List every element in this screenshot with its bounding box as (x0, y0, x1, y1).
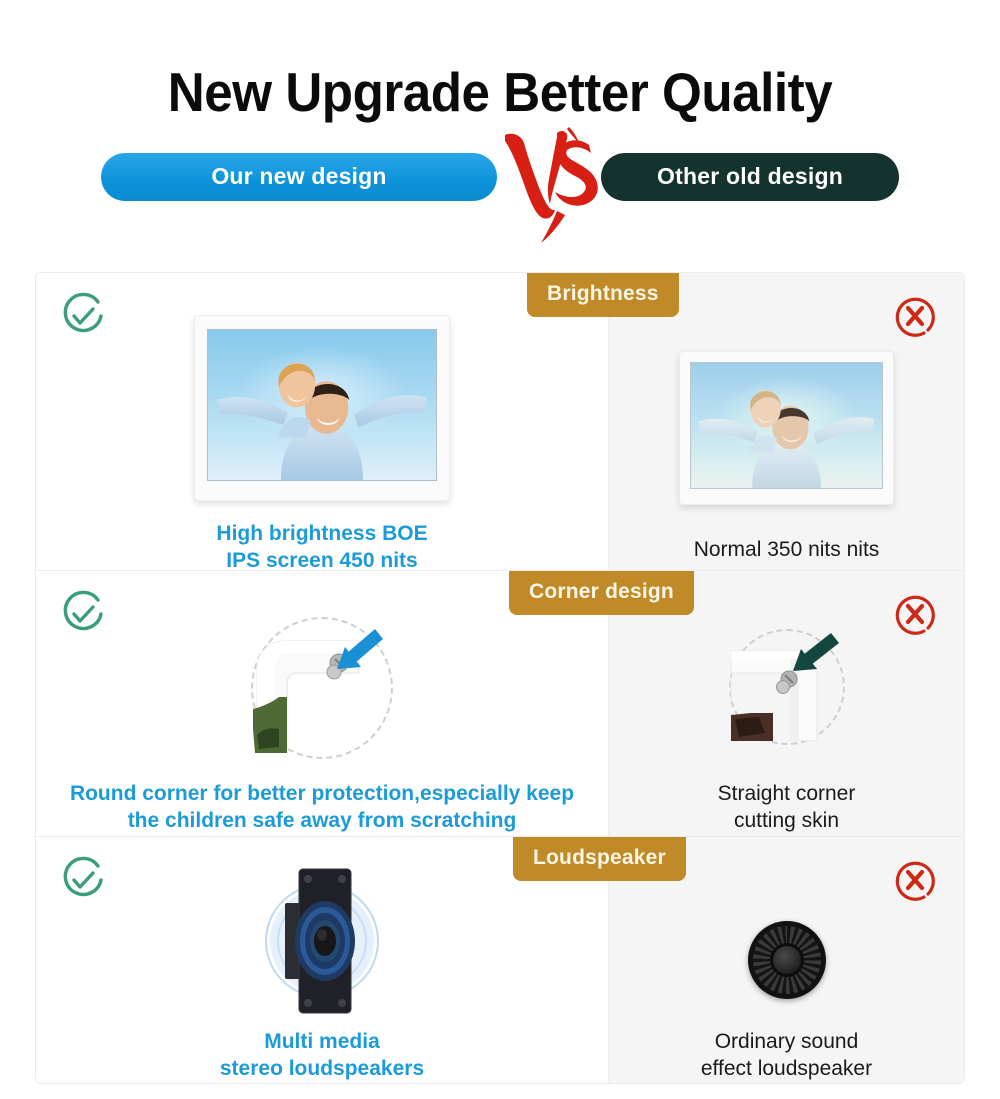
other-old-design-pill[interactable]: Other old design (601, 153, 899, 201)
image-photo-frame-bright (36, 273, 608, 501)
comparison-grid: Brightness (35, 272, 965, 1084)
our-new-design-pill[interactable]: Our new design (101, 153, 497, 201)
cell-bad-brightness: Normal 350 nits nits (609, 273, 964, 570)
cell-good-brightness: High brightness BOE IPS screen 450 nits (36, 273, 609, 570)
other-old-design-label: Other old design (657, 163, 843, 190)
page-title: New Upgrade Better Quality (35, 0, 965, 123)
comparison-row-loudspeaker: Loudspeaker (36, 837, 964, 1083)
check-circle-icon (58, 589, 108, 639)
caption-bad-corner: Straight corner cutting skin (718, 781, 856, 835)
comparison-row-brightness: Brightness (36, 273, 964, 571)
cross-circle-icon (890, 855, 940, 905)
row-badge-loudspeaker: Loudspeaker (513, 837, 686, 881)
caption-good-corner: Round corner for better protection,espec… (70, 781, 574, 835)
caption-good-brightness: High brightness BOE IPS screen 450 nits (216, 521, 427, 575)
cross-circle-icon (890, 589, 940, 639)
versus-header: Our new design Other old design (0, 153, 1000, 225)
check-circle-icon (58, 291, 108, 341)
check-circle-icon (58, 855, 108, 905)
caption-bad-brightness: Normal 350 nits nits (694, 537, 880, 564)
caption-good-loudspeaker: Multi media stereo loudspeakers (220, 1029, 424, 1083)
cross-circle-icon (890, 291, 940, 341)
comparison-row-corner: Corner design (36, 571, 964, 837)
row-badge-corner: Corner design (509, 571, 694, 615)
row-badge-brightness: Brightness (527, 273, 679, 317)
our-new-design-label: Our new design (211, 163, 386, 190)
vs-icon (497, 127, 601, 249)
caption-bad-loudspeaker: Ordinary sound effect loudspeaker (701, 1029, 872, 1083)
